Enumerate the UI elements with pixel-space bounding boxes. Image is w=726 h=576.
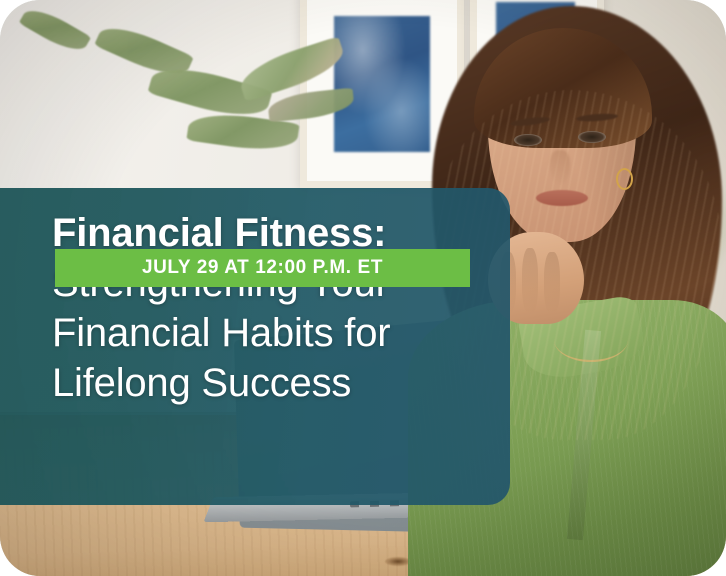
promo-banner: Financial Fitness: Strengthening Your Fi… (0, 0, 726, 576)
page-title: Financial Fitness: Strengthening Your Fi… (52, 208, 470, 408)
finger (522, 248, 538, 314)
text-card: Financial Fitness: Strengthening Your Fi… (0, 188, 510, 505)
eye (514, 134, 542, 146)
hoop-earring (616, 168, 633, 190)
headline-line-4: Lifelong Success (52, 358, 470, 408)
finger (544, 252, 560, 314)
eye (578, 131, 606, 143)
headline-line-3: Financial Habits for (52, 308, 470, 358)
wood-knot (385, 557, 411, 566)
date-badge-label: JULY 29 AT 12:00 P.M. ET (142, 257, 383, 279)
mouth (536, 190, 588, 206)
abstract-art-print (334, 16, 430, 153)
nose (550, 150, 570, 184)
date-badge: JULY 29 AT 12:00 P.M. ET (55, 249, 470, 287)
